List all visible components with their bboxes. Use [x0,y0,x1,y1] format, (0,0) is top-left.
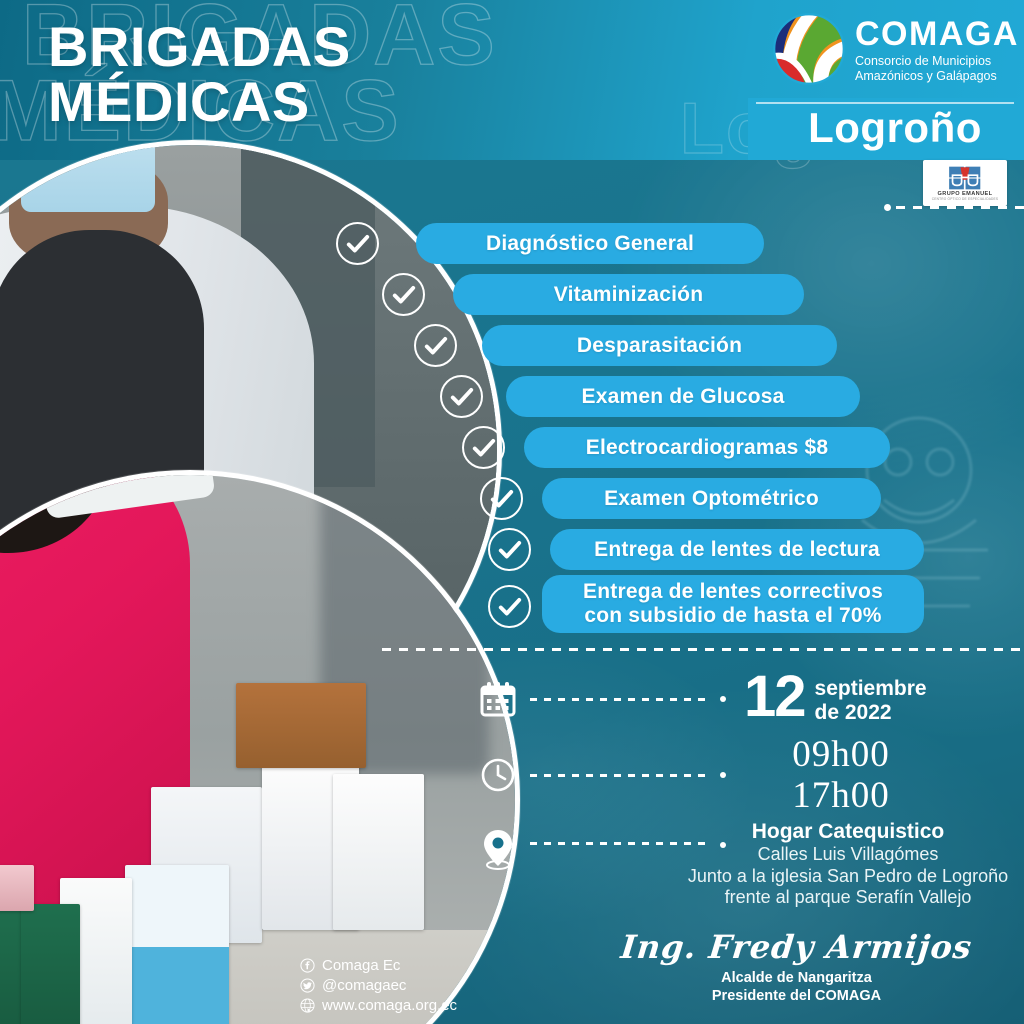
service-row: Examen Optométrico [336,477,936,527]
comaga-logo-icon [772,12,846,86]
poster-canvas: BRIGADAS MÉDICAS Logroño BRIGADAS MÉDICA… [0,0,1024,1024]
date-month: septiembre [815,677,927,701]
date-value: 12 septiembre de 2022 [744,673,927,724]
service-row: Examen de Glucosa [336,375,936,425]
check-icon [440,375,483,418]
checkmark-icon [449,384,475,410]
sponsor-dashed-rule [884,206,1024,209]
map-pin-icon [480,828,516,870]
service-pill[interactable]: Diagnóstico General [416,223,764,264]
signature-block: Ing. Fredy Armijos Alcalde de Nangaritza… [621,931,972,1006]
twitter-icon [300,978,315,993]
date-leader-dot [720,696,726,702]
signature-role-1: Alcalde de Nangaritza [621,970,972,988]
time-leader-dot [720,772,726,778]
service-pill[interactable]: Examen de Glucosa [506,376,860,417]
comaga-subtitle-line-1: Consorcio de Municipios [855,54,1019,69]
service-pill[interactable]: Desparasitación [482,325,837,366]
service-row: Desparasitación [336,324,936,374]
service-pill[interactable]: Entrega de lentes correctivos con subsid… [542,575,924,633]
service-pill[interactable]: Examen Optométrico [542,478,881,519]
service-pill[interactable]: Electrocardiogramas $8 [524,427,890,468]
comaga-subtitle-line-2: Amazónicos y Galápagos [855,69,1019,84]
globe-icon [300,998,315,1013]
social-twitter[interactable]: @comagaec [300,976,457,996]
date-day: 12 [744,673,805,721]
checkmark-icon [497,594,523,620]
time-value: 09h00 17h00 [736,734,946,817]
check-icon [336,222,379,265]
venue-address-1: Calles Luis Villagómes [672,844,1024,866]
venue-name: Hogar Catequistico [672,820,1024,844]
checkmark-icon [423,333,449,359]
event-info: 12 septiembre de 2022 09h00 17h00 [470,668,1024,920]
social-website[interactable]: www.comaga.org.ec [300,996,457,1016]
date-year: de 2022 [815,701,927,725]
dash-start-dot [884,204,891,211]
check-icon [488,585,531,628]
twitter-handle: @comagaec [322,976,406,996]
service-row: Vitaminización [336,273,936,323]
check-icon [462,426,505,469]
section-divider [382,648,1024,651]
time-end: 17h00 [736,775,946,816]
check-icon [414,324,457,367]
calendar-icon [478,679,518,719]
time-row: 09h00 17h00 [470,730,1024,820]
calendar-icon-wrap [470,679,526,719]
check-icon [382,273,425,316]
title-line-2: MÉDICAS [48,75,351,130]
comaga-brand: COMAGA Consorcio de Municipios Amazónico… [772,12,1019,86]
dash-line [896,206,1024,209]
eyeglasses-icon [948,166,982,190]
services-checklist: Diagnóstico General Vitaminización Despa… [336,222,936,646]
date-leader-line [530,698,710,701]
city-band: Logroño [748,98,1024,160]
social-links: Comaga Ec @comagaec www.comaga.org.ec [300,956,457,1015]
sponsor-tagline: CENTRO ÓPTICO DE ESPECIALIDADES [932,197,998,201]
clock-icon-wrap [470,755,526,795]
service-pill-line-2: con subsidio de hasta el 70% [584,604,881,628]
time-start: 09h00 [736,734,946,775]
facebook-icon [300,958,315,973]
location-icon-wrap [470,820,526,870]
checkmark-icon [345,231,371,257]
website-url: www.comaga.org.ec [322,996,457,1016]
signature-name: Ing. Fredy Armijos [619,931,974,965]
city-name: Logroño [766,102,1024,155]
sponsor-logo: GRUPO EMANUEL CENTRO ÓPTICO DE ESPECIALI… [923,160,1007,206]
signature-role-2: Presidente del COMAGA [621,988,972,1006]
venue-value: Hogar Catequistico Calles Luis Villagóme… [672,820,1024,909]
service-pill[interactable]: Entrega de lentes de lectura [550,529,924,570]
checkmark-icon [497,537,523,563]
service-row: Diagnóstico General [336,222,936,272]
location-row: Hogar Catequistico Calles Luis Villagóme… [470,820,1024,920]
service-row: Entrega de lentes de lectura [336,528,936,578]
comaga-wordmark: COMAGA [855,17,1019,51]
venue-address-3: frente al parque Serafín Vallejo [672,887,1024,909]
time-leader-line [530,774,710,777]
service-row: Entrega de lentes correctivos con subsid… [336,579,936,645]
service-pill[interactable]: Vitaminización [453,274,804,315]
checkmark-icon [391,282,417,308]
page-title: BRIGADAS MÉDICAS [48,20,351,130]
date-row: 12 septiembre de 2022 [470,668,1024,730]
facebook-handle: Comaga Ec [322,956,400,976]
service-row: Electrocardiogramas $8 [336,426,936,476]
service-pill-line-1: Entrega de lentes correctivos [583,580,883,604]
checkmark-icon [471,435,497,461]
social-facebook[interactable]: Comaga Ec [300,956,457,976]
check-icon [488,528,531,571]
clock-icon [478,755,518,795]
checkmark-icon [489,486,515,512]
venue-address-2: Junto a la iglesia San Pedro de Logroño [672,866,1024,888]
title-line-1: BRIGADAS [48,20,351,75]
check-icon [480,477,523,520]
